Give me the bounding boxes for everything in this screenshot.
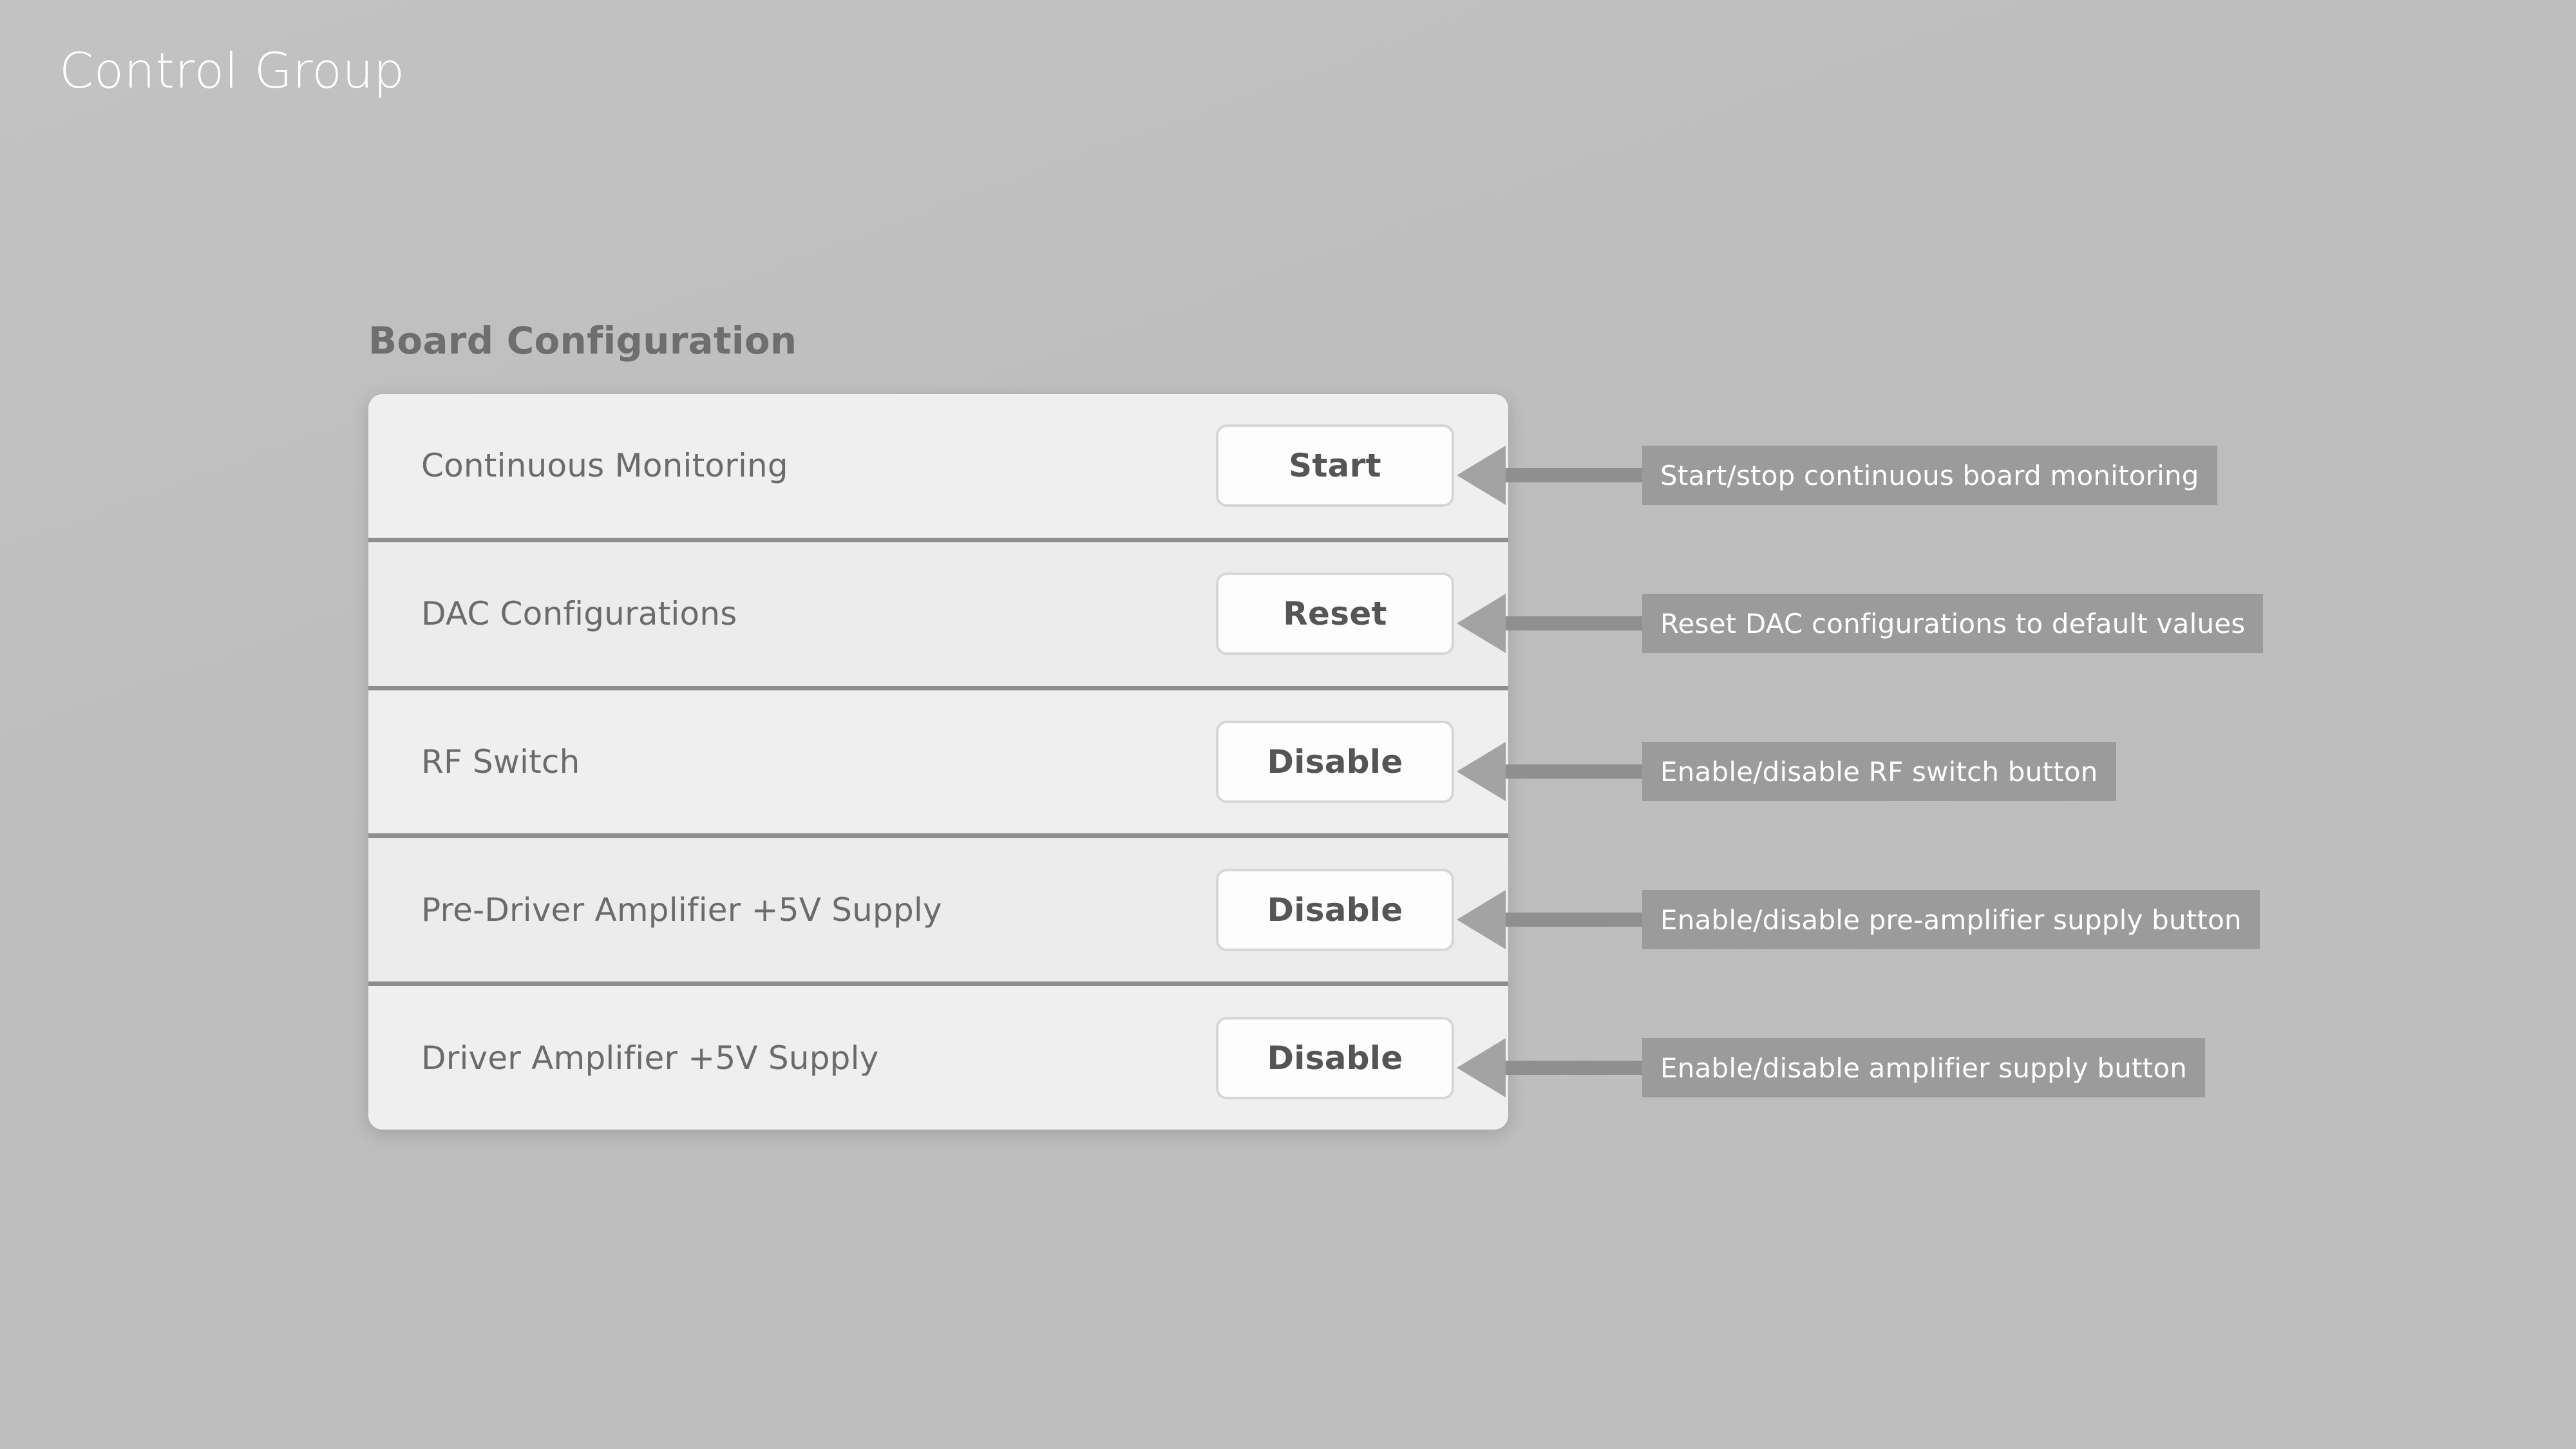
row-label: RF Switch xyxy=(421,743,1216,781)
arrow-left-icon xyxy=(1457,446,1506,505)
driver-amplifier-supply-button[interactable]: Disable xyxy=(1216,1017,1454,1099)
annotation-text: Reset DAC configurations to default valu… xyxy=(1660,608,2245,639)
annotation-rf-switch: Enable/disable RF switch button xyxy=(1457,742,2116,801)
row-label: Pre-Driver Amplifier +5V Supply xyxy=(421,891,1216,929)
annotation-box: Enable/disable RF switch button xyxy=(1642,742,2116,801)
config-row-rf-switch: RF Switch Disable xyxy=(368,686,1508,834)
page-title: Control Group xyxy=(59,46,405,95)
row-label: DAC Configurations xyxy=(421,595,1216,632)
config-row-pre-driver-amplifier-supply: Pre-Driver Amplifier +5V Supply Disable xyxy=(368,833,1508,981)
arrow-shaft xyxy=(1506,913,1645,927)
arrow-left-icon xyxy=(1457,1038,1506,1097)
annotation-pre-driver-amplifier-supply: Enable/disable pre-amplifier supply butt… xyxy=(1457,890,2260,949)
continuous-monitoring-button[interactable]: Start xyxy=(1216,424,1454,507)
annotation-text: Enable/disable pre-amplifier supply butt… xyxy=(1660,904,2242,936)
annotation-box: Enable/disable pre-amplifier supply butt… xyxy=(1642,890,2260,949)
arrow-left-icon xyxy=(1457,742,1506,801)
annotation-box: Reset DAC configurations to default valu… xyxy=(1642,594,2263,653)
section-header: Board Configuration xyxy=(368,322,797,359)
row-label: Continuous Monitoring xyxy=(421,447,1216,484)
annotation-continuous-monitoring: Start/stop continuous board monitoring xyxy=(1457,446,2217,505)
arrow-left-icon xyxy=(1457,594,1506,653)
annotation-box: Start/stop continuous board monitoring xyxy=(1642,446,2217,505)
arrow-shaft xyxy=(1506,616,1645,630)
arrow-left-icon xyxy=(1457,890,1506,949)
arrow-shaft xyxy=(1506,764,1645,779)
config-row-continuous-monitoring: Continuous Monitoring Start xyxy=(368,394,1508,538)
config-row-dac-configurations: DAC Configurations Reset xyxy=(368,538,1508,686)
arrow-shaft xyxy=(1506,1061,1645,1075)
annotation-text: Enable/disable amplifier supply button xyxy=(1660,1052,2187,1084)
config-row-driver-amplifier-supply: Driver Amplifier +5V Supply Disable xyxy=(368,981,1508,1130)
annotation-text: Start/stop continuous board monitoring xyxy=(1660,460,2199,491)
board-configuration-card: Continuous Monitoring Start DAC Configur… xyxy=(368,394,1508,1130)
dac-configurations-reset-button[interactable]: Reset xyxy=(1216,573,1454,655)
annotation-text: Enable/disable RF switch button xyxy=(1660,756,2098,788)
annotation-box: Enable/disable amplifier supply button xyxy=(1642,1038,2205,1097)
annotation-driver-amplifier-supply: Enable/disable amplifier supply button xyxy=(1457,1038,2205,1097)
pre-driver-amplifier-supply-button[interactable]: Disable xyxy=(1216,869,1454,951)
rf-switch-button[interactable]: Disable xyxy=(1216,721,1454,803)
annotation-dac-configurations: Reset DAC configurations to default valu… xyxy=(1457,594,2263,653)
row-label: Driver Amplifier +5V Supply xyxy=(421,1039,1216,1077)
arrow-shaft xyxy=(1506,468,1645,482)
